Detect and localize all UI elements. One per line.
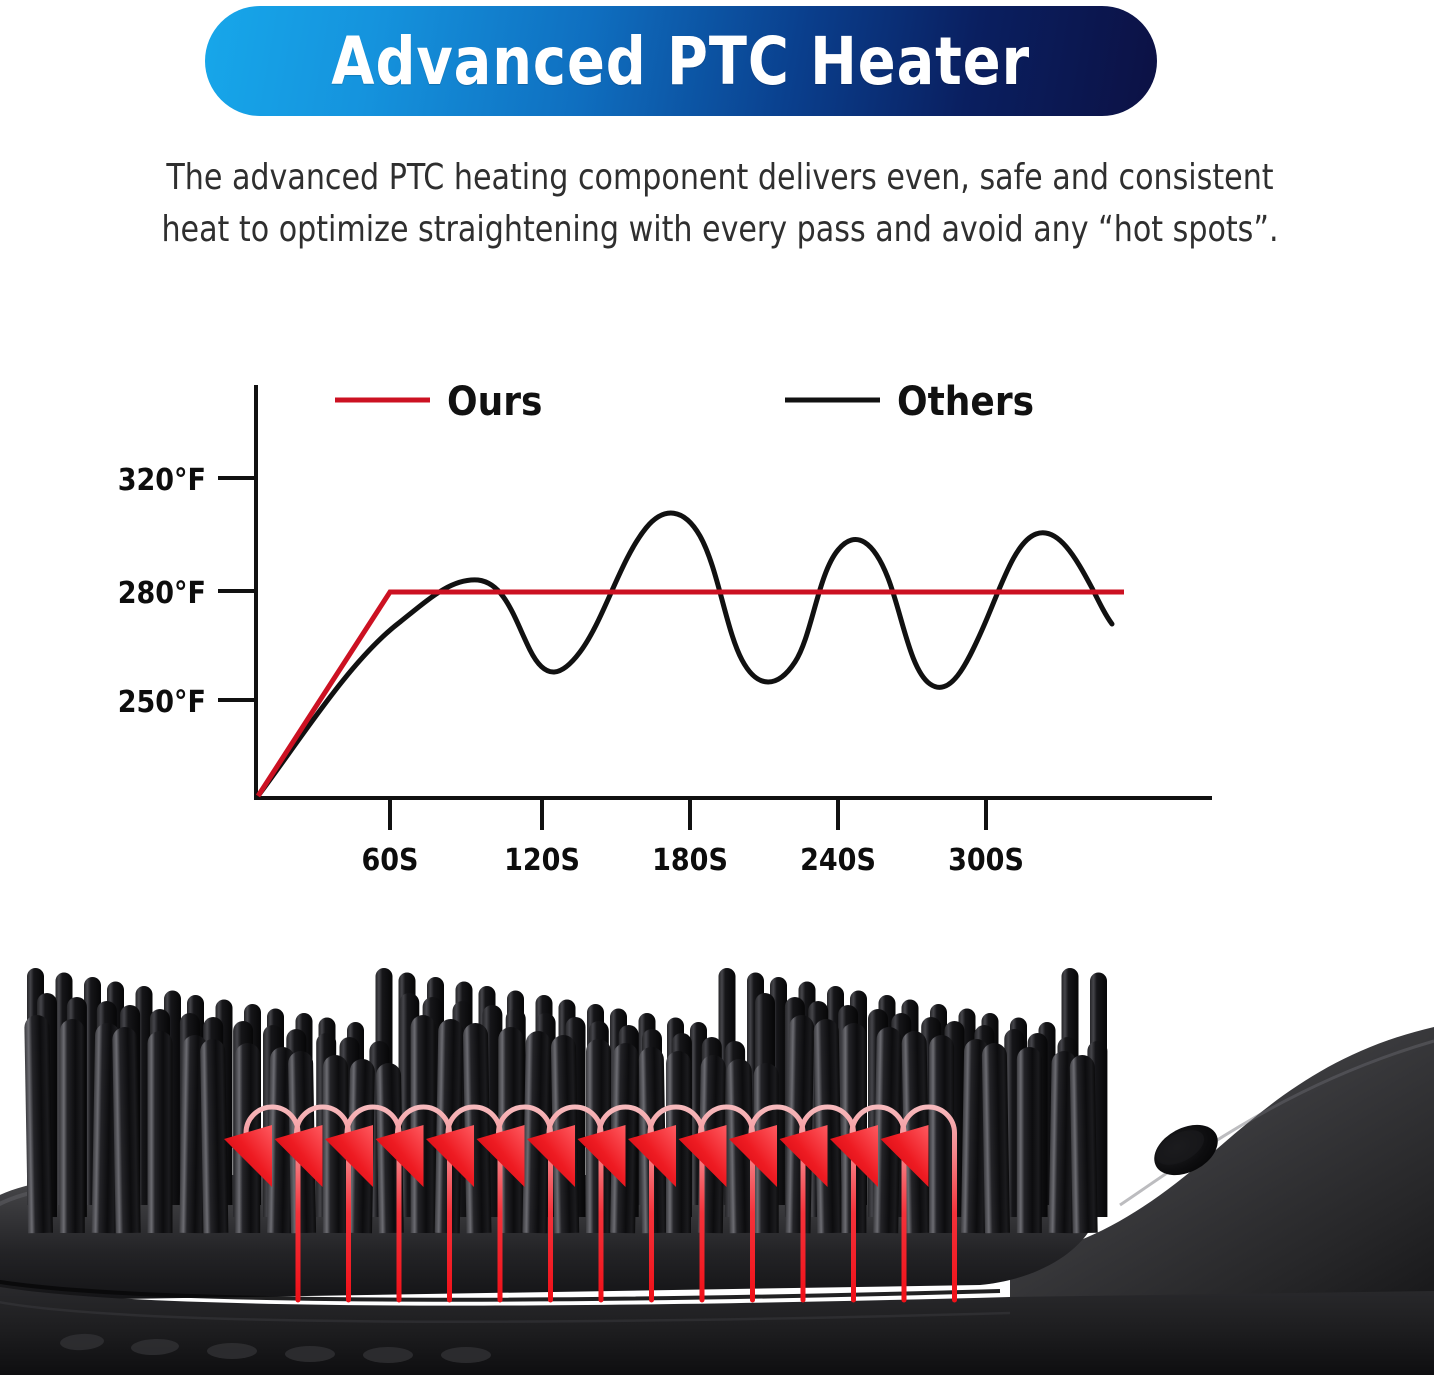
bristle-pin	[200, 1039, 228, 1233]
bristle-pin	[411, 1015, 436, 1233]
x-axis-ticks: 60S 120S 180S 240S 300S	[362, 798, 1024, 878]
bristle-pin	[982, 1043, 1010, 1233]
x-tick-label-300: 300S	[948, 843, 1024, 878]
y-tick-label-320: 320°F	[118, 463, 206, 498]
bristle-pin	[24, 1015, 53, 1233]
bristle-pin	[1017, 1047, 1042, 1233]
x-tick-label-240: 240S	[800, 843, 876, 878]
legend-label-ours: Ours	[447, 379, 542, 425]
bristle-pin	[148, 1031, 173, 1233]
chart-legend: Ours Others	[335, 379, 1034, 425]
x-tick-label-120: 120S	[504, 843, 580, 878]
subtitle-line-1: The advanced PTC heating component deliv…	[106, 152, 1334, 204]
brush-bristles	[24, 968, 1107, 1233]
series-line-ours	[258, 592, 1124, 796]
bristle-pin	[929, 1035, 954, 1233]
heat-stability-chart: Ours Others 320°F 280°F 250°F 60S 120S 1…	[0, 330, 1434, 890]
series-line-others	[258, 513, 1112, 796]
x-tick-label-180: 180S	[652, 843, 728, 878]
y-axis-ticks: 320°F 280°F 250°F	[118, 463, 256, 720]
y-tick-label-250: 250°F	[118, 685, 206, 720]
bristle-pin	[112, 1027, 141, 1233]
legend-label-others: Others	[897, 379, 1034, 425]
bristle-pin	[814, 1019, 843, 1233]
y-tick-label-280: 280°F	[118, 576, 206, 611]
bristle-pin	[1070, 1055, 1098, 1233]
bristle-row-front	[24, 1015, 1098, 1233]
x-tick-label-60: 60S	[362, 843, 419, 878]
product-photo	[0, 955, 1434, 1375]
header-banner: Advanced PTC Heater	[205, 6, 1157, 116]
subtitle-description: The advanced PTC heating component deliv…	[106, 152, 1334, 256]
bristle-pin	[60, 1019, 85, 1233]
subtitle-line-2: heat to optimize straightening with ever…	[106, 204, 1334, 256]
page-title: Advanced PTC Heater	[332, 23, 1031, 100]
